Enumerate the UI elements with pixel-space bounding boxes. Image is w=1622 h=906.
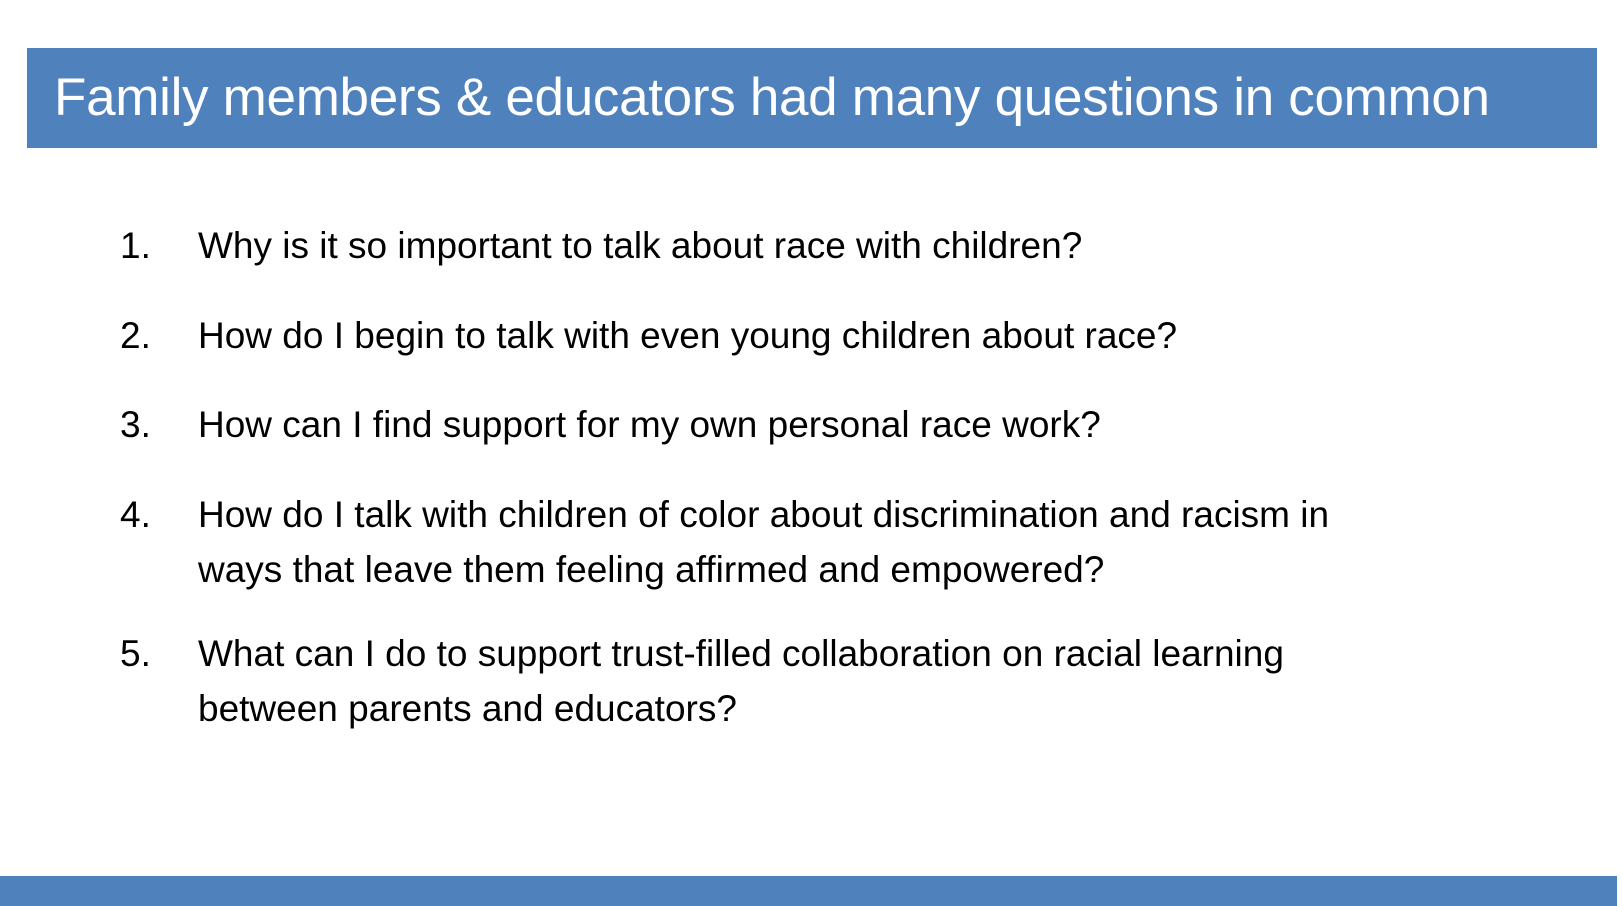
slide-content: 1. Why is it so important to talk about … [0,150,1622,870]
list-item-number: 4. [120,487,198,543]
list-item-text: Why is it so important to talk about rac… [198,218,1378,274]
list-item: 1. Why is it so important to talk about … [120,218,1540,274]
list-item-text: How do I talk with children of color abo… [198,487,1378,598]
list-item: 3. How can I find support for my own per… [120,397,1540,453]
slide-footer-bar [0,876,1617,906]
slide-title-bar: Family members & educators had many ques… [27,48,1597,148]
list-item-text: What can I do to support trust-filled co… [198,626,1378,737]
list-item-number: 1. [120,218,198,274]
slide-title: Family members & educators had many ques… [27,70,1490,126]
list-item: 4. How do I talk with children of color … [120,487,1540,598]
list-item-number: 5. [120,626,198,682]
list-item: 5. What can I do to support trust-filled… [120,626,1540,737]
list-item-text: How can I find support for my own person… [198,397,1378,453]
question-list: 1. Why is it so important to talk about … [120,218,1540,765]
list-item-number: 2. [120,308,198,364]
list-item-number: 3. [120,397,198,453]
slide: Family members & educators had many ques… [0,0,1622,906]
list-item: 2. How do I begin to talk with even youn… [120,308,1540,364]
list-item-text: How do I begin to talk with even young c… [198,308,1378,364]
